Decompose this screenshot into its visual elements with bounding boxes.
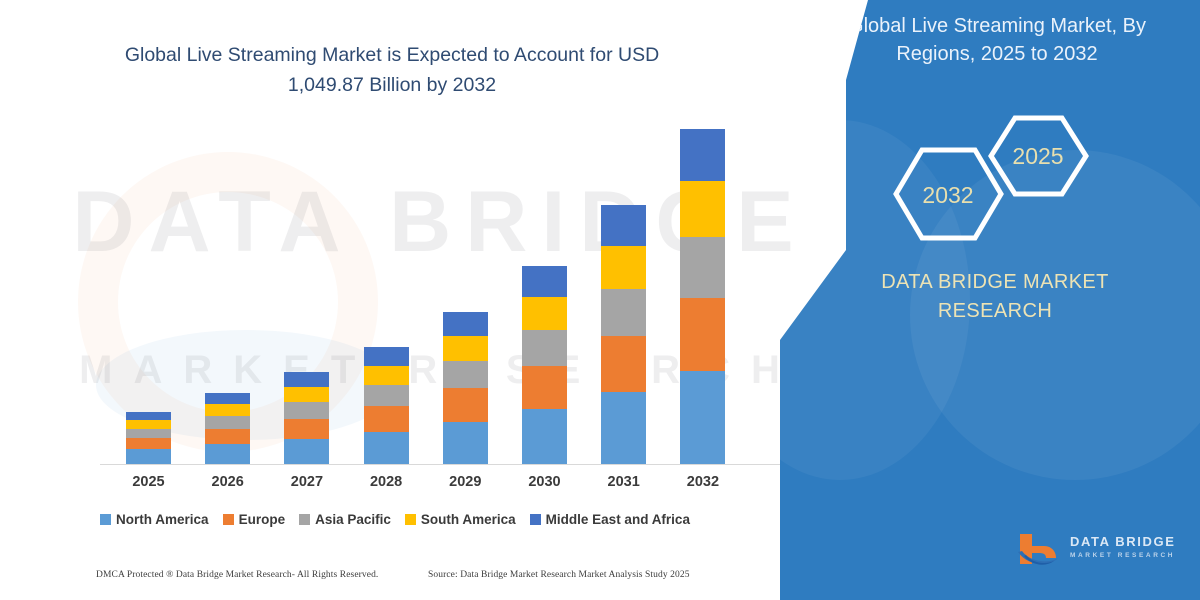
bar-segment (443, 312, 488, 336)
bar-segment (443, 422, 488, 464)
legend-swatch-icon (405, 514, 416, 525)
data-bridge-logo: DATA BRIDGE MARKET RESEARCH (1012, 530, 1188, 574)
bar-segment (601, 205, 646, 245)
bar-segment (205, 393, 250, 404)
bar-2032[interactable] (680, 129, 725, 464)
bar-segment (126, 438, 171, 449)
bar-segment (205, 444, 250, 464)
bar-segment (284, 387, 329, 402)
bar-segment (601, 392, 646, 464)
bar-segment (522, 266, 567, 297)
footer-copyright: DMCA Protected ® Data Bridge Market Rese… (96, 570, 378, 580)
x-axis-label-2031: 2031 (594, 474, 654, 490)
hexagon-right-label: 2025 (1012, 143, 1063, 169)
bar-segment (284, 402, 329, 419)
bar-segment (601, 289, 646, 336)
bar-segment (126, 420, 171, 429)
hexagon-pair-icon: 2025 2032 (870, 112, 1110, 242)
legend-swatch-icon (530, 514, 541, 525)
bar-segment (601, 246, 646, 289)
bar-segment (205, 429, 250, 444)
bar-segment (284, 372, 329, 387)
bar-2026[interactable] (205, 393, 250, 464)
bar-segment (601, 336, 646, 392)
legend-item[interactable]: Europe (223, 512, 286, 527)
bar-segment (126, 429, 171, 438)
logo-line-2: MARKET RESEARCH (1070, 552, 1175, 559)
bar-segment (522, 297, 567, 330)
bar-segment (205, 404, 250, 416)
bar-segment (443, 336, 488, 361)
legend-label: South America (421, 512, 516, 527)
page-title: Global Live Streaming Market is Expected… (96, 40, 688, 100)
legend-swatch-icon (299, 514, 310, 525)
bar-segment (680, 237, 725, 298)
bar-segment (364, 366, 409, 385)
legend-label: North America (116, 512, 209, 527)
x-axis-label-2029: 2029 (435, 474, 495, 490)
x-axis-label-2030: 2030 (515, 474, 575, 490)
bar-segment (364, 406, 409, 431)
bar-2029[interactable] (443, 312, 488, 464)
bar-segment (680, 371, 725, 464)
brand-line-1: DATA BRIDGE MARKET (800, 268, 1190, 297)
bar-2027[interactable] (284, 372, 329, 464)
brand-line-2: RESEARCH (800, 297, 1190, 326)
legend-label: Europe (239, 512, 286, 527)
bar-2030[interactable] (522, 266, 567, 464)
bar-segment (284, 439, 329, 464)
right-panel: Global Live Streaming Market, By Regions… (780, 0, 1200, 600)
bar-segment (364, 347, 409, 366)
bar-segment (284, 419, 329, 439)
bar-segment (364, 432, 409, 465)
logo-mark-icon (1012, 530, 1064, 570)
bar-segment (522, 366, 567, 409)
legend-item[interactable]: South America (405, 512, 516, 527)
x-axis-label-2026: 2026 (198, 474, 258, 490)
hexagon-left-label: 2032 (922, 182, 973, 208)
bar-segment (680, 181, 725, 237)
bar-2028[interactable] (364, 347, 409, 464)
logo-text: DATA BRIDGE MARKET RESEARCH (1070, 534, 1175, 559)
bar-segment (522, 330, 567, 366)
bar-segment (205, 416, 250, 429)
logo-line-1: DATA BRIDGE (1070, 534, 1175, 549)
x-axis-labels: 20252026202720282029203020312032 (90, 474, 790, 498)
bar-2031[interactable] (601, 205, 646, 464)
x-axis-line (100, 464, 790, 465)
x-axis-label-2027: 2027 (277, 474, 337, 490)
bar-2025[interactable] (126, 412, 171, 464)
x-axis-label-2028: 2028 (356, 474, 416, 490)
bar-segment (443, 388, 488, 421)
chart-legend: North AmericaEuropeAsia PacificSouth Ame… (0, 512, 790, 527)
legend-item[interactable]: Asia Pacific (299, 512, 391, 527)
legend-swatch-icon (100, 514, 111, 525)
legend-swatch-icon (223, 514, 234, 525)
bar-segment (126, 449, 171, 464)
legend-label: Middle East and Africa (546, 512, 690, 527)
bar-segment (680, 129, 725, 181)
panel-brand-name: DATA BRIDGE MARKET RESEARCH (800, 268, 1190, 326)
infographic-canvas: DATA BRIDGE MARKET RESEARCH Global Live … (0, 0, 1200, 600)
footer-source: Source: Data Bridge Market Research Mark… (428, 570, 690, 580)
panel-title: Global Live Streaming Market, By Regions… (810, 12, 1184, 69)
x-axis-label-2025: 2025 (119, 474, 179, 490)
bar-segment (680, 298, 725, 371)
bar-segment (522, 409, 567, 464)
bar-segment (364, 385, 409, 406)
stacked-bar-chart (90, 120, 790, 465)
legend-item[interactable]: Middle East and Africa (530, 512, 690, 527)
bar-segment (443, 361, 488, 388)
x-axis-label-2032: 2032 (673, 474, 733, 490)
legend-item[interactable]: North America (100, 512, 209, 527)
hexagon-badges: 2025 2032 (780, 112, 1200, 242)
legend-label: Asia Pacific (315, 512, 391, 527)
bar-segment (126, 412, 171, 420)
